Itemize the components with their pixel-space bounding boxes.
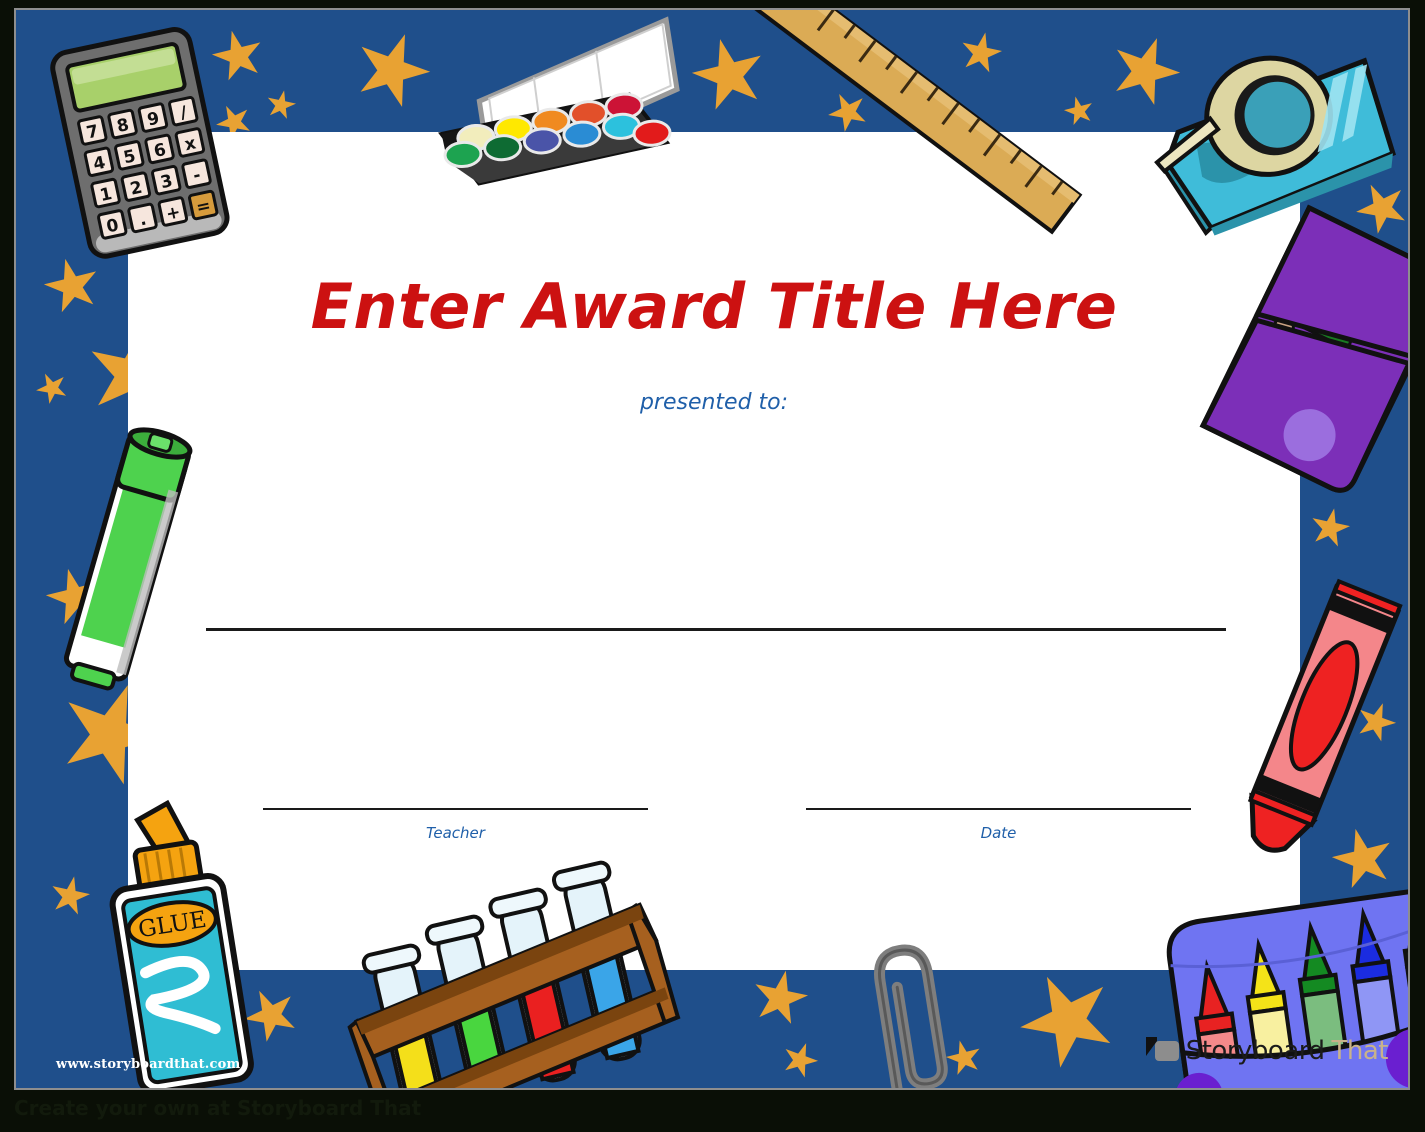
date-signature-line[interactable] [806, 808, 1191, 810]
certificate-text-layer: Enter Award Title Here presented to: Tea… [128, 132, 1300, 970]
teacher-signature-line[interactable] [263, 808, 648, 810]
presented-to-label: presented to: [128, 390, 1300, 415]
star-decoration [38, 252, 106, 320]
storyboardthat-logo[interactable]: Storyboard That [1155, 1036, 1388, 1066]
award-certificate: 789/ 456x 123- 0.+= [14, 8, 1410, 1090]
star-decoration [684, 30, 774, 120]
screenshot-root: 789/ 456x 123- 0.+= [0, 0, 1425, 1132]
star-decoration [747, 965, 813, 1031]
recipient-name-line[interactable] [206, 628, 1226, 631]
star-decoration [31, 367, 74, 410]
speech-bubble-icon [1155, 1041, 1179, 1061]
brand-name-secondary: That [1332, 1036, 1389, 1066]
date-label: Date [806, 824, 1191, 842]
teacher-label: Teacher [263, 824, 648, 842]
star-decoration [263, 87, 299, 123]
star-decoration [1306, 504, 1353, 551]
brand-name-primary: Storyboard [1186, 1036, 1325, 1066]
award-title[interactable]: Enter Award Title Here [128, 274, 1300, 339]
star-decoration [1004, 956, 1132, 1084]
page-caption: Create your own at Storyboard That [14, 1096, 421, 1120]
star-decoration [46, 872, 93, 919]
site-url-watermark: www.storyboardthat.com [56, 1057, 240, 1072]
star-decoration [1061, 93, 1097, 129]
star-decoration [777, 1037, 823, 1083]
